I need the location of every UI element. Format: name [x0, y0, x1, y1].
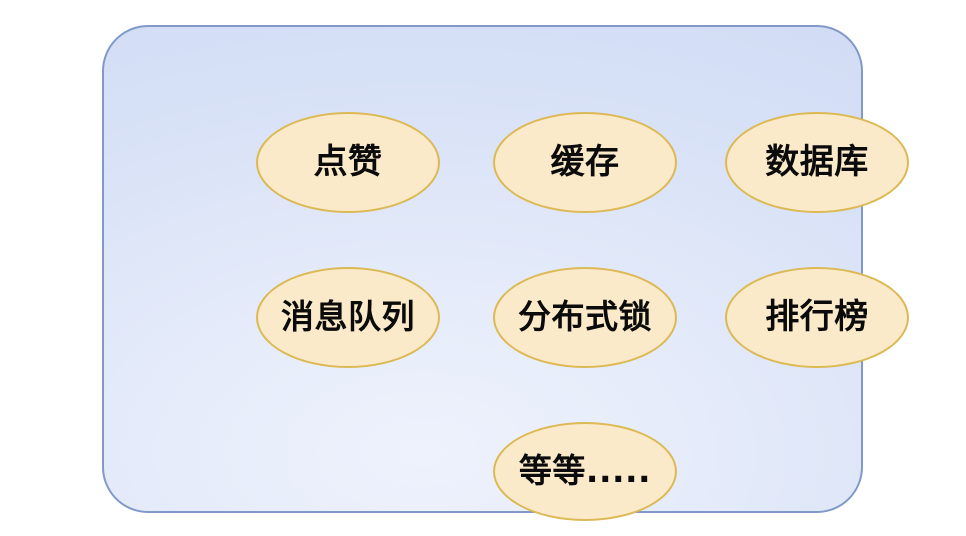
node-label: 点赞: [314, 145, 383, 179]
node-label: 消息队列: [281, 300, 415, 333]
node-fenbushisuo[interactable]: 分布式锁: [493, 267, 677, 368]
diagram-canvas: 点赞 缓存 数据库 消息队列 分布式锁 排行榜 等等.....: [0, 0, 966, 536]
node-dengdeng[interactable]: 等等.....: [493, 422, 677, 521]
rounded-panel: 点赞 缓存 数据库 消息队列 分布式锁 排行榜 等等.....: [102, 25, 863, 513]
node-label: 数据库: [765, 145, 869, 179]
node-shujuku[interactable]: 数据库: [725, 112, 909, 213]
node-xiaoxiduilie[interactable]: 消息队列: [256, 267, 440, 368]
node-huancun[interactable]: 缓存: [493, 112, 677, 213]
node-label: 分布式锁: [518, 300, 652, 333]
node-dianzan[interactable]: 点赞: [256, 112, 440, 213]
node-label: 等等.....: [519, 454, 651, 487]
node-label: 排行榜: [765, 300, 869, 334]
node-label: 缓存: [551, 145, 620, 179]
node-paihangbang[interactable]: 排行榜: [725, 267, 909, 368]
